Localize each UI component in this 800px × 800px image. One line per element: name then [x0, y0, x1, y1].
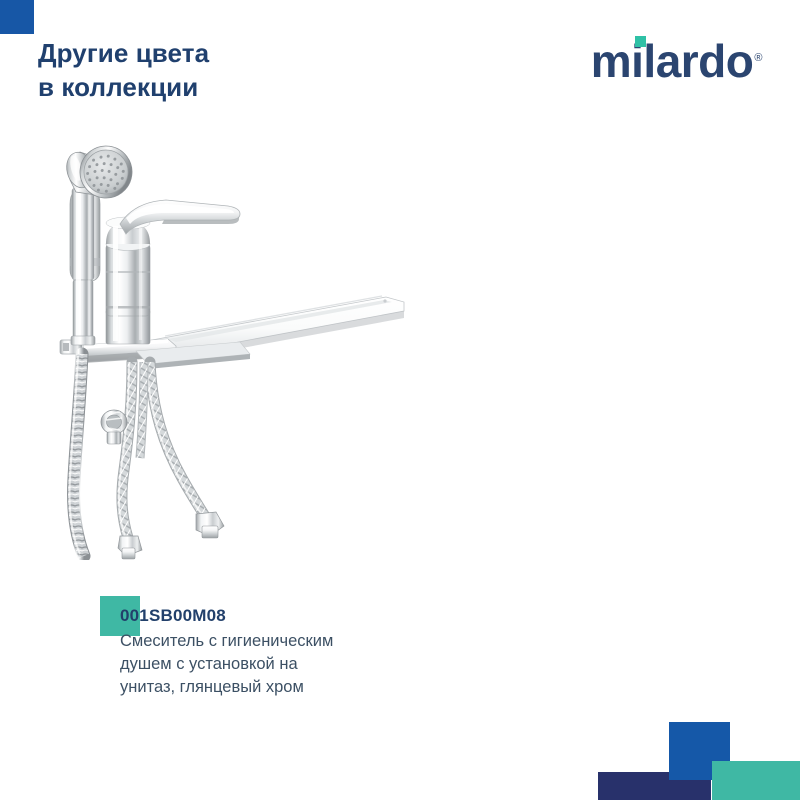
- product-description-line-3: унитаз, глянцевый хром: [120, 676, 420, 699]
- hose-riser: [140, 362, 144, 458]
- product-image: [40, 140, 440, 560]
- single-lever-mixer: [106, 217, 150, 344]
- braided-flexible-hose: [69, 354, 84, 556]
- supply-hose-right: [147, 362, 224, 538]
- product-caption: 001SB00M08 Смеситель с гигиеническим душ…: [120, 605, 420, 698]
- brand-logo: milardo®: [591, 38, 762, 90]
- supply-hose-left: [118, 362, 142, 559]
- corner-decoration-top-left: [0, 0, 34, 34]
- brand-dot-icon: [635, 36, 646, 47]
- page-title-line-2: в коллекции: [38, 70, 368, 104]
- product-description-line-2: душем с установкой на: [120, 653, 420, 676]
- product-illustration: [40, 140, 440, 560]
- product-description: Смеситель с гигиеническим душем с устано…: [120, 630, 420, 698]
- brand-wordmark-text: milardo: [591, 35, 754, 87]
- page-title: Другие цвета в коллекции: [38, 36, 368, 105]
- product-code: 001SB00M08: [120, 605, 420, 627]
- registered-trademark-icon: ®: [754, 52, 762, 64]
- brand-wordmark: milardo®: [591, 38, 762, 84]
- page-title-line-1: Другие цвета: [38, 36, 368, 70]
- product-description-line-1: Смеситель с гигиеническим: [120, 630, 420, 653]
- corner-decoration-teal-rect: [712, 761, 800, 800]
- hand-shower-handle: [71, 188, 95, 345]
